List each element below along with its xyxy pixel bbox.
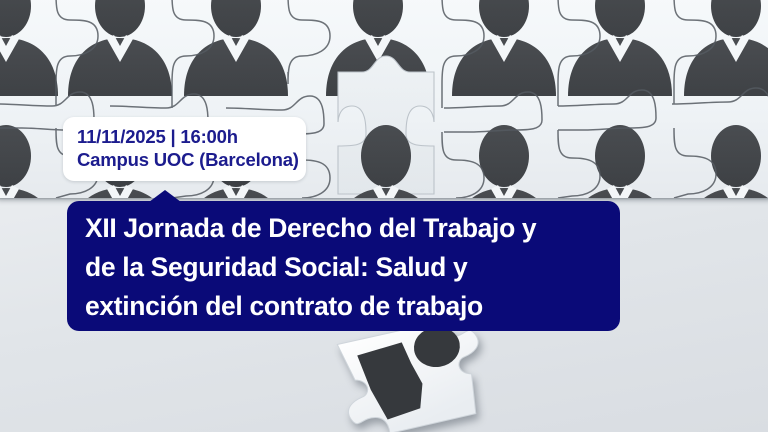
loose-puzzle-piece: [330, 322, 510, 432]
event-datetime: 11/11/2025 | 16:00h: [77, 125, 292, 148]
event-title-line-2: de la Seguridad Social: Salud y: [85, 248, 602, 287]
event-title-card: XII Jornada de Derecho del Trabajo y de …: [67, 201, 620, 331]
event-promo-banner: 11/11/2025 | 16:00h Campus UOC (Barcelon…: [0, 0, 768, 432]
event-title-line-3: extinción del contrato de trabajo: [85, 287, 602, 326]
event-title-line-1: XII Jornada de Derecho del Trabajo y: [85, 209, 602, 248]
event-venue: Campus UOC (Barcelona): [77, 148, 292, 171]
date-venue-card: 11/11/2025 | 16:00h Campus UOC (Barcelon…: [63, 117, 306, 181]
